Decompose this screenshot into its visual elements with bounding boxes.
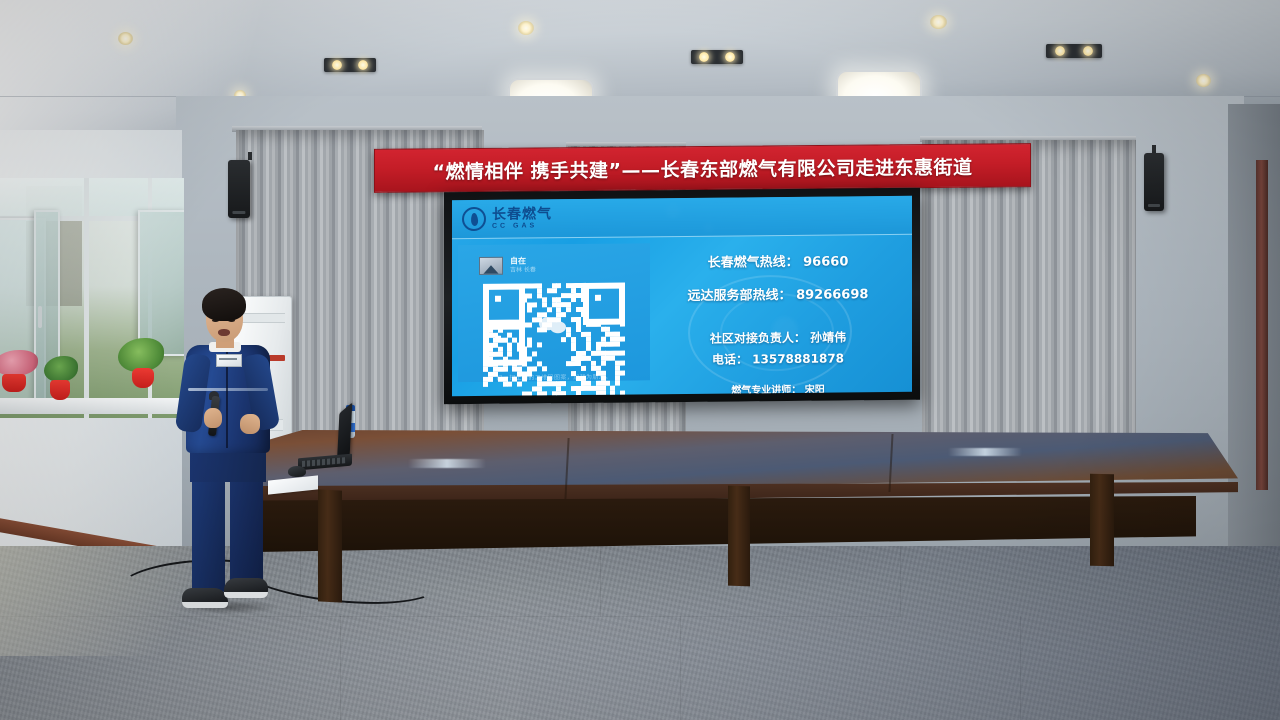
- presenter-mouth: [218, 329, 230, 336]
- wechat-profile-header: 自在 吉林 长春: [479, 256, 629, 276]
- qr-module: [532, 303, 537, 308]
- qr-module: [581, 395, 586, 396]
- ceiling-downlight: [1196, 74, 1211, 87]
- qr-module: [601, 361, 606, 366]
- table-leg-center: [728, 486, 750, 587]
- qr-module: [561, 337, 566, 342]
- wall-speaker-left: [228, 160, 250, 218]
- speaker-mount: [248, 152, 252, 160]
- led-display-bezel: 长春燃气 CC GAS 自在 吉林 长春: [444, 188, 920, 405]
- qr-module: [507, 381, 512, 386]
- computer-mouse[interactable]: [288, 466, 306, 477]
- qr-module: [498, 328, 503, 333]
- qr-module: [556, 317, 561, 322]
- qr-module: [483, 382, 488, 387]
- brand-name-en: CC GAS: [492, 222, 552, 230]
- community-liaison-name: 社区对接负责人： 孙靖伟: [710, 328, 846, 346]
- qr-module: [601, 395, 606, 396]
- qr-module: [586, 395, 591, 396]
- ceiling-spotlight-bar: [691, 50, 743, 64]
- profile-name-block: 自在 吉林 长春: [510, 256, 536, 275]
- presenter-shoe-right: [224, 578, 268, 598]
- qr-module: [542, 396, 547, 397]
- wall-speaker-right: [1144, 153, 1164, 211]
- flame-shape: [470, 212, 478, 226]
- floor-shadow: [520, 546, 1280, 720]
- presenter-name-badge: [216, 354, 242, 367]
- profile-region: 吉林 长春: [510, 267, 536, 276]
- profile-avatar: [479, 257, 503, 275]
- qr-module: [512, 323, 517, 328]
- qr-module: [537, 342, 542, 347]
- qr-module: [596, 395, 601, 396]
- ceiling-spotlight-bar: [324, 58, 376, 72]
- qr-module: [527, 322, 532, 327]
- slide-info-panel: 长春燃气热线： 96660 远达服务部热线： 89266698 社区对接负责人：…: [650, 235, 912, 389]
- plant-pot: [2, 374, 26, 392]
- event-banner: “燃情相伴 携手共建”——长春东部燃气有限公司走进东惠街道: [374, 143, 1031, 193]
- table-light-reflection: [948, 448, 1022, 456]
- qr-module: [507, 352, 512, 357]
- qr-module: [591, 395, 596, 396]
- qr-module: [615, 341, 620, 346]
- presenter-hips: [190, 448, 266, 482]
- brand-wordmark: 长春燃气 CC GAS: [492, 207, 552, 230]
- qr-module: [552, 396, 557, 397]
- right-wall: [1228, 104, 1280, 574]
- qr-module: [615, 395, 620, 396]
- qr-module: [620, 321, 625, 326]
- presenter-leg-right: [230, 478, 263, 586]
- qr-module: [532, 352, 537, 357]
- qr-module: [561, 396, 566, 397]
- qr-module: [620, 361, 625, 366]
- qr-module: [581, 297, 586, 302]
- qr-module: [561, 312, 566, 317]
- uniform-reflective-stripe: [188, 388, 268, 391]
- window-handle[interactable]: [38, 306, 42, 328]
- qr-module: [527, 308, 532, 313]
- brand-name-cn: 长春燃气: [492, 207, 552, 222]
- qr-module: [532, 366, 537, 371]
- hotline-changchun-gas: 长春燃气热线： 96660: [708, 250, 849, 270]
- slide-header: 长春燃气 CC GAS: [452, 196, 912, 239]
- presenter: [168, 288, 288, 620]
- qr-module: [620, 336, 625, 341]
- wechat-qr-panel: 自在 吉林 长春 扫一扫上面的二维码图案，加我为朋友。: [458, 243, 650, 382]
- qr-module: [615, 380, 620, 385]
- slide-body: 自在 吉林 长春 扫一扫上面的二维码图案，加我为朋友。: [452, 235, 912, 390]
- laptop-keyboard[interactable]: [302, 457, 346, 467]
- qr-code-image[interactable]: [483, 282, 625, 366]
- qr-module: [571, 297, 576, 302]
- presenter-hand-right: [240, 414, 260, 434]
- door-frame: [1256, 160, 1268, 490]
- presenter-hand-left: [204, 408, 222, 428]
- qr-module: [527, 357, 532, 362]
- window-sill: [0, 398, 186, 414]
- qr-module: [581, 366, 586, 371]
- qr-module: [561, 381, 566, 386]
- plant-pot: [50, 380, 70, 400]
- qr-module: [620, 395, 625, 396]
- qr-finder-top-right: [583, 282, 625, 324]
- window-mullion: [84, 178, 89, 418]
- qr-module: [527, 371, 532, 376]
- presentation-slide: 长春燃气 CC GAS 自在 吉林 长春: [452, 196, 912, 396]
- qr-module: [542, 366, 547, 371]
- ceiling-spotlight-bar: [1046, 44, 1102, 58]
- ceiling-downlight: [518, 21, 534, 35]
- qr-module: [527, 342, 532, 347]
- window-wall: [0, 178, 184, 428]
- qr-module: [552, 288, 557, 293]
- cc-gas-flame-icon: [462, 207, 486, 231]
- gas-instructor-name: 燃气专业讲师： 宋阳: [731, 381, 824, 397]
- qr-module: [542, 327, 547, 332]
- qr-module: [566, 307, 571, 312]
- qr-module: [566, 395, 571, 396]
- table-leg-right: [1090, 474, 1114, 566]
- event-banner-text: “燃情相伴 携手共建”——长春东部燃气有限公司走进东惠街道: [432, 152, 972, 184]
- ceiling-downlight: [930, 15, 947, 29]
- qr-module: [503, 367, 508, 372]
- qr-module: [556, 283, 561, 288]
- qr-module: [527, 293, 532, 298]
- qr-module: [517, 381, 522, 386]
- presenter-hair: [202, 288, 246, 321]
- presenter-leg-left: [192, 478, 225, 594]
- qr-module: [547, 308, 552, 313]
- qr-module: [522, 376, 527, 381]
- room-photo-scene: “燃情相伴 携手共建”——长春东部燃气有限公司走进东惠街道 长春燃气 CC GA…: [0, 0, 1280, 720]
- hotline-yuanda-service: 远达服务部热线： 89266698: [688, 283, 869, 304]
- ceiling-downlight: [118, 32, 133, 45]
- gray-curtain-right: [922, 140, 1136, 466]
- table-light-reflection: [408, 459, 486, 468]
- table-leg-left: [318, 489, 342, 602]
- qr-module: [488, 377, 493, 382]
- qr-module: [547, 322, 552, 327]
- qr-finder-top-left: [483, 283, 525, 325]
- qr-module: [620, 351, 625, 356]
- plant-pot: [132, 368, 154, 388]
- qr-module: [576, 395, 581, 396]
- community-liaison-phone: 电话： 13578881878: [712, 349, 844, 367]
- qr-module: [620, 370, 625, 375]
- presenter-shoe-left: [182, 588, 228, 608]
- qr-module: [581, 312, 586, 317]
- qr-module: [503, 323, 508, 328]
- qr-module: [571, 395, 576, 396]
